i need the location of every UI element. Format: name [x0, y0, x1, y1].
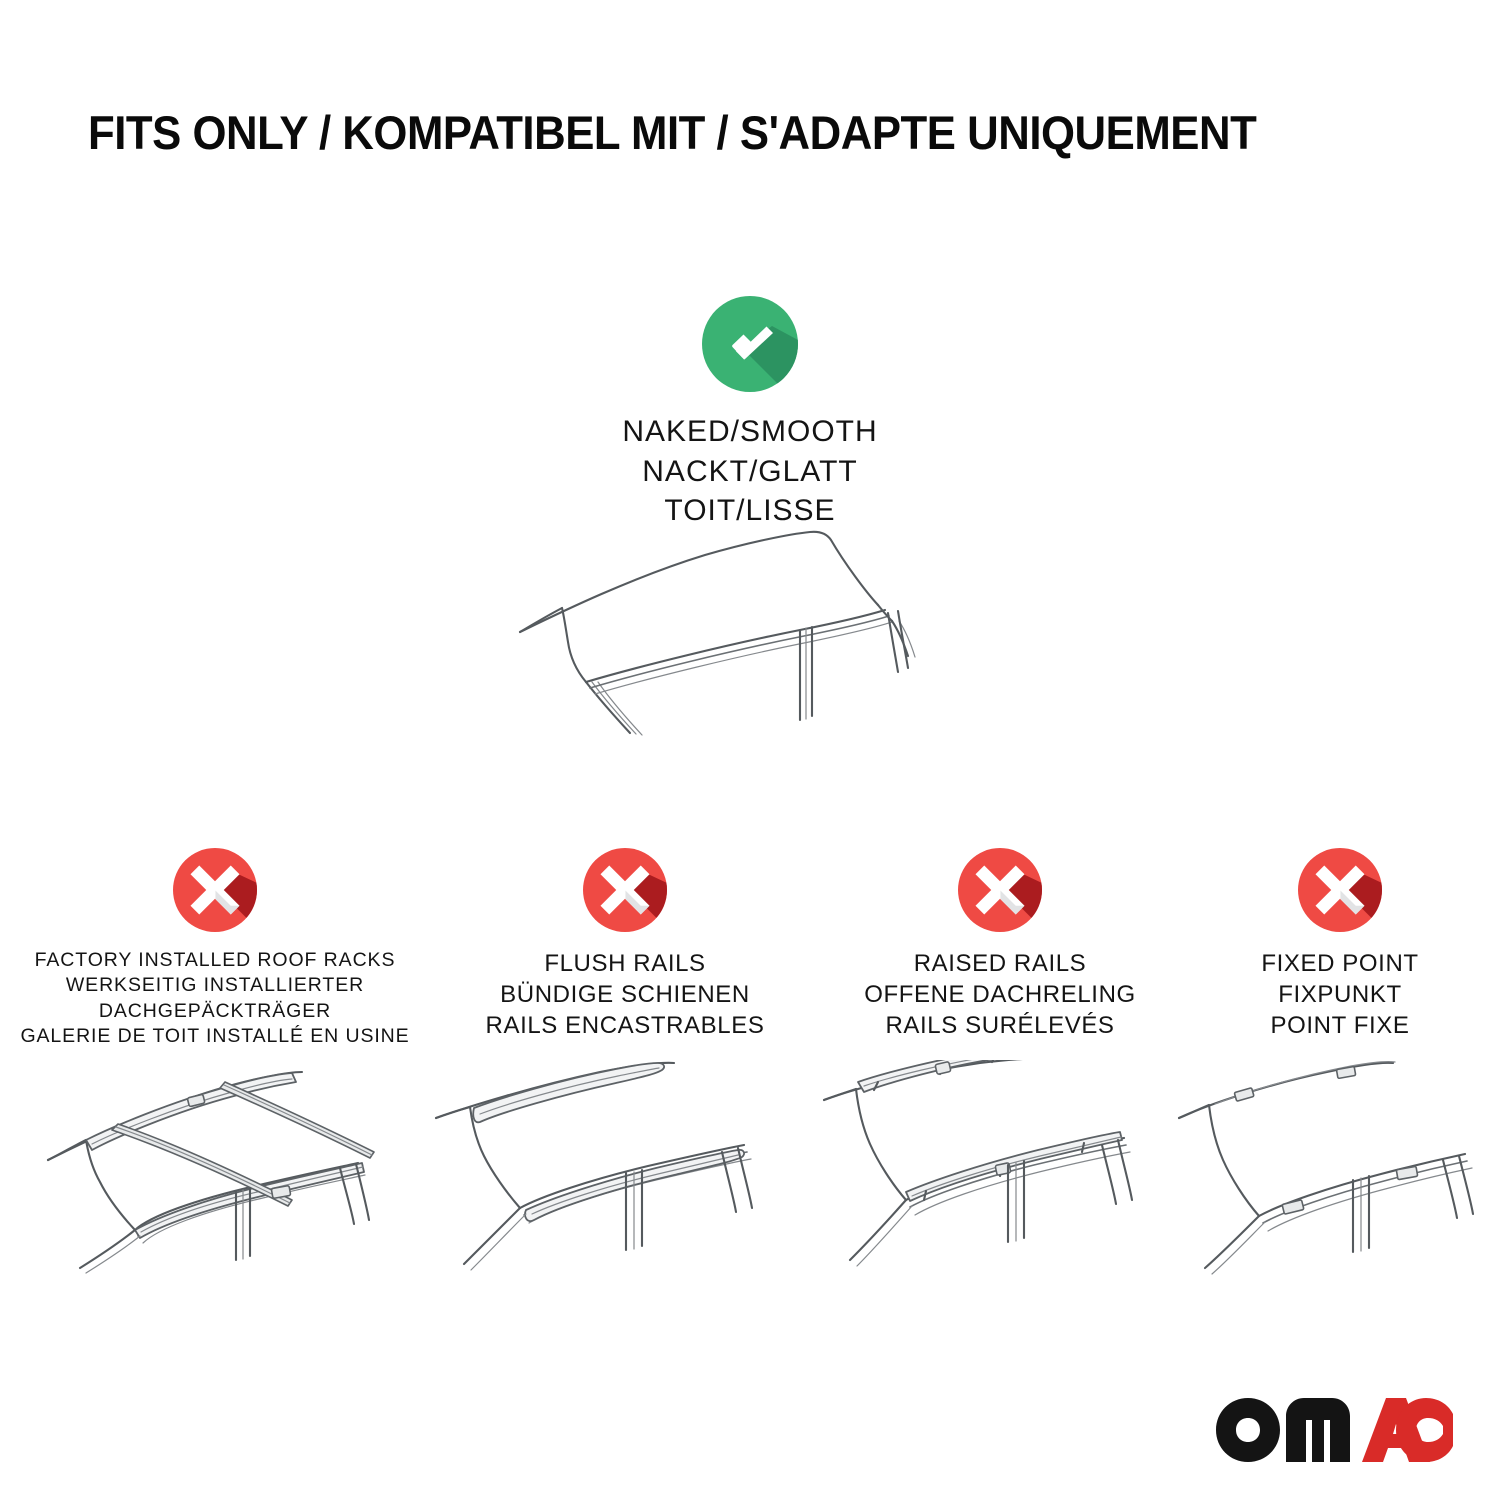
car-roof-with-flush-rails-illustration	[430, 1060, 820, 1275]
x-circle-icon	[1298, 848, 1382, 932]
x-mark-glyph	[1298, 848, 1382, 932]
car-roof-with-fixed-points-illustration	[1175, 1060, 1500, 1275]
incompatible-item-raised-rails: RAISED RAILS OFFENE DACHRELING RAILS SUR…	[820, 848, 1180, 1042]
label-de-line1: WERKSEITIG INSTALLIERTER	[15, 973, 415, 998]
label-en: NAKED/SMOOTH	[490, 412, 1010, 452]
check-mark-glyph	[702, 296, 798, 392]
compatible-roof-type-block: NAKED/SMOOTH NACKT/GLATT TOIT/LISSE	[490, 296, 1010, 531]
label-en: FLUSH RAILS	[435, 948, 815, 979]
omac-brand-logo	[1212, 1394, 1457, 1466]
x-circle-icon	[583, 848, 667, 932]
omac-logo-glyph	[1212, 1394, 1457, 1466]
check-circle-icon	[702, 296, 798, 392]
label-en: FACTORY INSTALLED ROOF RACKS	[15, 948, 415, 973]
label-de-line1: OFFENE DACHRELING	[820, 979, 1180, 1010]
incompatible-item-flush-rails: FLUSH RAILS BÜNDIGE SCHIENEN RAILS ENCAS…	[435, 848, 815, 1042]
label-de-line2: DACHGEPÄCKTRÄGER	[15, 999, 415, 1024]
bare-smooth-car-roof-illustration	[500, 520, 1000, 790]
label-de-line1: FIXPUNKT	[1175, 979, 1500, 1010]
x-mark-glyph	[958, 848, 1042, 932]
label-de-line1: BÜNDIGE SCHIENEN	[435, 979, 815, 1010]
page-title: FITS ONLY / KOMPATIBEL MIT / S'ADAPTE UN…	[88, 108, 1334, 157]
incompatible-item-factory-roof-racks: FACTORY INSTALLED ROOF RACKS WERKSEITIG …	[15, 848, 415, 1049]
label-fr: GALERIE DE TOIT INSTALLÉ EN USINE	[15, 1024, 415, 1049]
car-roof-with-raised-rails-illustration	[820, 1060, 1200, 1275]
infographic-page: FITS ONLY / KOMPATIBEL MIT / S'ADAPTE UN…	[0, 0, 1500, 1500]
incompatible-labels: FLUSH RAILS BÜNDIGE SCHIENEN RAILS ENCAS…	[435, 948, 815, 1042]
compatible-roof-type-labels: NAKED/SMOOTH NACKT/GLATT TOIT/LISSE	[490, 412, 1010, 531]
incompatible-labels: RAISED RAILS OFFENE DACHRELING RAILS SUR…	[820, 948, 1180, 1042]
x-mark-glyph	[173, 848, 257, 932]
label-fr: POINT FIXE	[1175, 1010, 1500, 1041]
incompatible-labels: FACTORY INSTALLED ROOF RACKS WERKSEITIG …	[15, 948, 415, 1049]
car-roof-with-factory-roof-rack-illustration	[40, 1060, 450, 1275]
x-circle-icon	[958, 848, 1042, 932]
incompatible-item-fixed-point: FIXED POINT FIXPUNKT POINT FIXE	[1175, 848, 1500, 1042]
label-de: NACKT/GLATT	[490, 452, 1010, 492]
label-en: RAISED RAILS	[820, 948, 1180, 979]
label-fr: RAILS SURÉLEVÉS	[820, 1010, 1180, 1041]
x-circle-icon	[173, 848, 257, 932]
label-en: FIXED POINT	[1175, 948, 1500, 979]
label-fr: RAILS ENCASTRABLES	[435, 1010, 815, 1041]
incompatible-labels: FIXED POINT FIXPUNKT POINT FIXE	[1175, 948, 1500, 1042]
x-mark-glyph	[583, 848, 667, 932]
